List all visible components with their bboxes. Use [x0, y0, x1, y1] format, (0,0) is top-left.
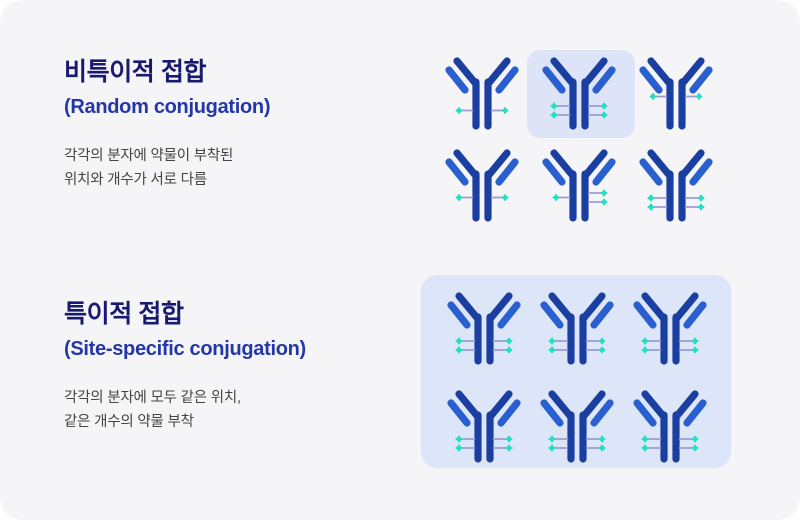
- drug-marker-icon: [505, 346, 512, 353]
- antibody-specific-3: [633, 287, 707, 371]
- random-description-line-1: 각각의 분자에 약물이 부착된: [64, 144, 394, 169]
- antibody-specific-6: [633, 385, 707, 469]
- antibody-specific-5: [540, 385, 614, 469]
- antibody-random-5: [542, 144, 616, 228]
- drug-marker-icon: [501, 107, 508, 114]
- antibody-cell: [624, 384, 717, 469]
- drug-marker-icon: [601, 112, 608, 119]
- drug-marker-icon: [549, 435, 556, 442]
- antibody-cell: [530, 140, 627, 232]
- drug-marker-icon: [599, 337, 606, 344]
- drug-marker-icon: [601, 190, 608, 197]
- specific-heading-korean: 특이적 접합: [64, 300, 394, 330]
- antibody-random-3: [639, 52, 713, 136]
- antibody-cell: [437, 384, 530, 469]
- antibody-cell: [530, 384, 623, 469]
- drug-marker-icon: [599, 346, 606, 353]
- random-description: 각각의 분자에 약물이 부착된 위치와 개수가 서로 다름: [64, 144, 394, 194]
- specific-antibody-grid: [437, 286, 717, 469]
- drug-marker-icon: [599, 435, 606, 442]
- drug-marker-icon: [505, 435, 512, 442]
- drug-marker-icon: [551, 103, 558, 110]
- drug-marker-icon: [455, 337, 462, 344]
- drug-marker-icon: [551, 112, 558, 119]
- drug-marker-icon: [692, 435, 699, 442]
- drug-marker-icon: [642, 337, 649, 344]
- antibody-cell: [433, 140, 530, 232]
- section-specific-text: 특이적 접합 (Site-specific conjugation) 각각의 분…: [64, 300, 394, 435]
- random-heading-korean: 비특이적 접합: [64, 58, 394, 88]
- antibody-figure-area: [415, 0, 800, 520]
- drug-marker-icon: [692, 337, 699, 344]
- random-antibody-grid: [433, 48, 725, 232]
- drug-marker-icon: [553, 194, 560, 201]
- antibody-random-2: [542, 52, 616, 136]
- drug-marker-icon: [549, 337, 556, 344]
- antibody-specific-4: [447, 385, 521, 469]
- antibody-specific-1: [447, 287, 521, 371]
- antibody-specific-2: [540, 287, 614, 371]
- drug-marker-icon: [505, 337, 512, 344]
- antibody-cell: [628, 140, 725, 232]
- diagram-canvas: 비특이적 접합 (Random conjugation) 각각의 분자에 약물이…: [0, 0, 800, 520]
- antibody-cell: [437, 286, 530, 371]
- drug-marker-icon: [455, 444, 462, 451]
- antibody-random-4: [445, 144, 519, 228]
- random-heading-english: (Random conjugation): [64, 94, 394, 120]
- antibody-cell: [530, 286, 623, 371]
- section-random-text: 비특이적 접합 (Random conjugation) 각각의 분자에 약물이…: [64, 58, 394, 193]
- drug-marker-icon: [601, 103, 608, 110]
- drug-marker-icon: [692, 346, 699, 353]
- antibody-cell: [530, 48, 627, 140]
- specific-description: 각각의 분자에 모두 같은 위치, 같은 개수의 약물 부착: [64, 386, 394, 436]
- drug-marker-icon: [642, 346, 649, 353]
- drug-marker-icon: [696, 93, 703, 100]
- drug-marker-icon: [648, 195, 655, 202]
- antibody-random-6: [639, 144, 713, 228]
- drug-marker-icon: [455, 435, 462, 442]
- drug-marker-icon: [648, 204, 655, 211]
- drug-marker-icon: [455, 346, 462, 353]
- drug-marker-icon: [601, 199, 608, 206]
- drug-marker-icon: [549, 346, 556, 353]
- antibody-random-1: [445, 52, 519, 136]
- specific-description-line-2: 같은 개수의 약물 부착: [64, 410, 394, 435]
- drug-marker-icon: [501, 194, 508, 201]
- antibody-cell: [433, 48, 530, 140]
- drug-marker-icon: [650, 93, 657, 100]
- drug-marker-icon: [599, 444, 606, 451]
- antibody-cell: [624, 286, 717, 371]
- drug-marker-icon: [455, 107, 462, 114]
- drug-marker-icon: [505, 444, 512, 451]
- drug-marker-icon: [692, 444, 699, 451]
- drug-marker-icon: [455, 194, 462, 201]
- specific-heading-english: (Site-specific conjugation): [64, 336, 394, 362]
- specific-description-line-1: 각각의 분자에 모두 같은 위치,: [64, 386, 394, 411]
- random-description-line-2: 위치와 개수가 서로 다름: [64, 168, 394, 193]
- antibody-cell: [628, 48, 725, 140]
- drug-marker-icon: [642, 444, 649, 451]
- drug-marker-icon: [642, 435, 649, 442]
- drug-marker-icon: [549, 444, 556, 451]
- drug-marker-icon: [698, 195, 705, 202]
- drug-marker-icon: [698, 204, 705, 211]
